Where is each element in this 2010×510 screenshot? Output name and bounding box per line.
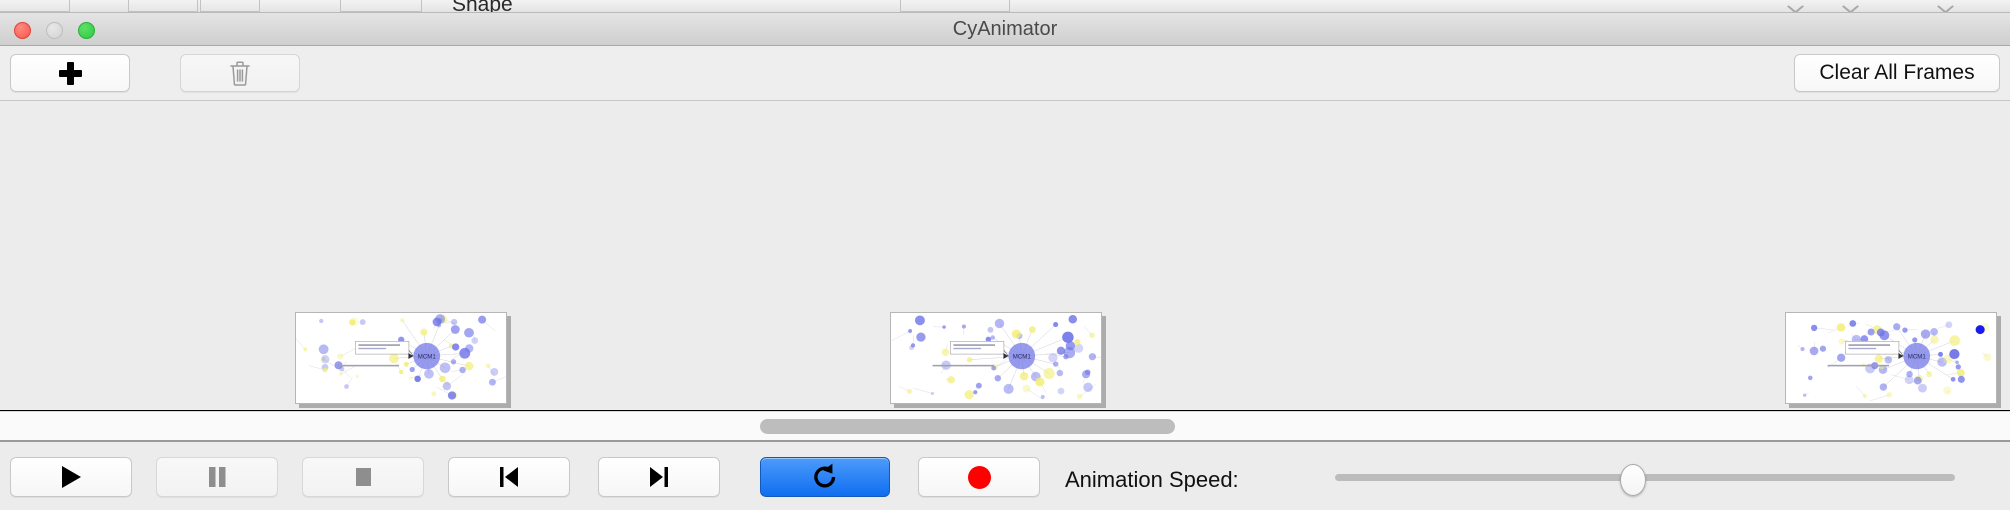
timeline-scrollbar[interactable] (0, 411, 2010, 442)
window-title: CyAnimator (0, 13, 2010, 46)
animation-speed-label: Animation Speed: (1065, 467, 1239, 493)
pause-button[interactable] (156, 457, 278, 497)
bg-tab (0, 0, 70, 12)
pause-icon (205, 463, 229, 491)
play-button[interactable] (10, 457, 132, 497)
bg-tab (128, 0, 198, 12)
timeline-frame[interactable]: MCM1 (890, 312, 1102, 404)
delete-frame-button[interactable] (180, 54, 300, 92)
record-icon (968, 466, 991, 489)
timeline-frame[interactable]: MCM1 (295, 312, 507, 404)
toolbar: Clear All Frames (0, 46, 2010, 101)
bg-tab (900, 0, 1010, 12)
svg-text:MCM1: MCM1 (1908, 354, 1927, 361)
title-bar: CyAnimator (0, 13, 2010, 46)
loop-button[interactable] (760, 457, 890, 497)
previous-frame-button[interactable] (448, 457, 570, 497)
add-frame-button[interactable] (10, 54, 130, 92)
playback-control-bar: Animation Speed: (0, 444, 2010, 510)
loop-icon (810, 462, 840, 492)
background-window-strip: Shape (0, 0, 2010, 13)
bg-tab (200, 0, 260, 12)
clear-all-frames-button[interactable]: Clear All Frames (1794, 54, 2000, 92)
timeline-frame[interactable]: MCM1 (1785, 312, 1997, 404)
stop-button[interactable] (302, 457, 424, 497)
bg-tab (340, 0, 422, 12)
plus-icon (58, 61, 82, 85)
svg-text:MCM1: MCM1 (418, 354, 437, 361)
clear-all-frames-label: Clear All Frames (1819, 61, 1974, 85)
stop-icon (352, 465, 374, 489)
timeline-panel[interactable]: MCM1 MCM1 MCM1 (0, 101, 2010, 411)
record-button[interactable] (918, 457, 1040, 497)
bg-shape-label: Shape (452, 0, 513, 13)
play-icon (58, 463, 84, 491)
svg-text:MCM1: MCM1 (1013, 354, 1032, 361)
cyanimator-window: Shape CyAnimator Clear All Frames (0, 0, 2010, 510)
chevron-icon (1842, 0, 1859, 13)
chevron-icon (1937, 0, 1954, 13)
scrollbar-thumb[interactable] (760, 419, 1175, 434)
skip-forward-icon (646, 463, 672, 491)
skip-back-icon (496, 463, 522, 491)
next-frame-button[interactable] (598, 457, 720, 497)
chevron-icon (1787, 0, 1804, 13)
trash-icon (229, 60, 251, 86)
animation-speed-slider-thumb[interactable] (1620, 464, 1646, 496)
